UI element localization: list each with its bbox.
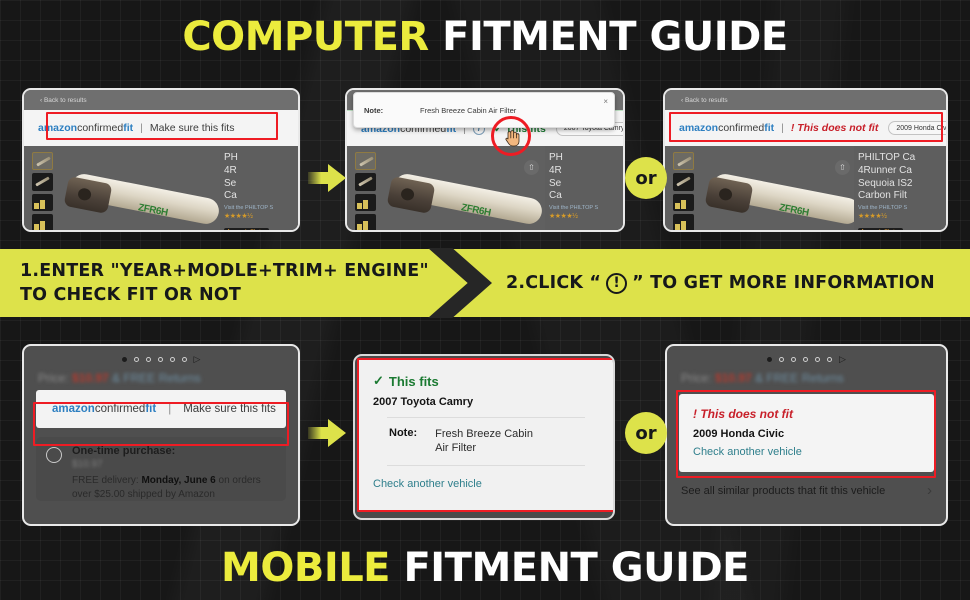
fit-word: fit bbox=[123, 122, 133, 134]
page-title-computer: COMPUTER FITMENT GUIDE bbox=[0, 14, 970, 60]
share-icon[interactable]: ⇧ bbox=[835, 160, 850, 175]
delivery-prefix: FREE delivery: bbox=[72, 475, 141, 486]
rating-stars: ★★★★½ bbox=[858, 212, 942, 220]
product-image: ZFR6H bbox=[70, 172, 230, 232]
check-another-vehicle-link[interactable]: Check another vehicle bbox=[693, 446, 920, 458]
divider-2 bbox=[387, 465, 585, 466]
note-tooltip-popup: Note: Fresh Breeze Cabin Air Filter × bbox=[353, 92, 615, 128]
make-sure-this-fits-label: Make sure this fits bbox=[183, 403, 276, 415]
fit-word: fit bbox=[145, 403, 156, 415]
lockup-separator: | bbox=[140, 122, 143, 134]
fit-word: fit bbox=[764, 122, 774, 134]
confirmed-word: confirmed bbox=[718, 122, 764, 134]
visit-store-link[interactable]: Visit the PHILTOP S bbox=[549, 205, 619, 211]
product-title-line-1: PH bbox=[549, 152, 619, 165]
carousel-dot-1[interactable] bbox=[767, 357, 772, 362]
product-title-line-4: Carbon Filt bbox=[858, 190, 942, 203]
amazon-confirmed-fit-lockup-3: amazonconfirmedfit | ! This does not fit… bbox=[679, 121, 948, 135]
instruction-step-1: 1.ENTER "YEAR+MODLE+TRIM+ ENGINE" TO CHE… bbox=[0, 249, 430, 317]
fitted-vehicle-label: 2007 Toyota Camry bbox=[373, 396, 599, 408]
thumbnail-3[interactable] bbox=[673, 194, 694, 212]
lockup-separator: | bbox=[168, 403, 171, 415]
mobile-screenshot-step1: ▷ Price: $10.97 & FREE Returns amazoncon… bbox=[22, 344, 300, 526]
amazon-wordmark: amazon bbox=[679, 122, 718, 134]
does-not-fit-card: ! This does not fit 2009 Honda Civic Che… bbox=[679, 394, 934, 472]
check-another-vehicle-link[interactable]: Check another vehicle bbox=[373, 478, 599, 490]
vehicle-select-dropdown[interactable]: 2009 Honda Civic ▾ bbox=[888, 121, 948, 135]
mobile-screenshot-nofit: ▷ Price: $10.97 & FREE Returns ! This do… bbox=[665, 344, 948, 526]
amazon-confirmed-fit-lockup-mobile: amazonconfirmedfit | Make sure this fits bbox=[52, 403, 276, 415]
title-rest-mobile: FITMENT GUIDE bbox=[403, 545, 749, 591]
back-to-results-link[interactable]: ‹ Back to results bbox=[681, 97, 728, 104]
thumbnail-2[interactable] bbox=[355, 173, 376, 191]
instruction-banner: 1.ENTER "YEAR+MODLE+TRIM+ ENGINE" TO CHE… bbox=[0, 249, 970, 317]
see-all-similar-label: See all similar products that fit this v… bbox=[681, 484, 885, 499]
carousel-dot-4[interactable] bbox=[803, 357, 808, 362]
amazons-choice-badge: Amazon's Choice bbox=[224, 228, 269, 232]
free-returns-label: & FREE Returns bbox=[755, 371, 844, 385]
title-rest-computer: FITMENT GUIDE bbox=[442, 14, 788, 60]
mobile-fitment-bar: amazonconfirmedfit | Make sure this fits bbox=[36, 390, 286, 428]
back-to-results-link[interactable]: ‹ Back to results bbox=[40, 97, 87, 104]
amazons-choice-badge: Amazon's Choice bbox=[858, 228, 903, 232]
visit-store-link[interactable]: Visit the PHILTOP S bbox=[858, 205, 942, 211]
product-body-step3: ZFR6H ⇧ PHILTOP Ca 4Runner Ca Sequoia IS… bbox=[665, 146, 946, 232]
carousel-dot-5[interactable] bbox=[815, 357, 820, 362]
note-row: Note: Fresh Breeze Cabin Air Filter bbox=[373, 427, 599, 456]
title-highlight-mobile: MOBILE bbox=[221, 545, 390, 591]
visit-store-link[interactable]: Visit the PHILTOP S bbox=[224, 205, 294, 211]
note-label: Note: bbox=[364, 106, 420, 115]
instruction-step-2: 2.CLICK “ ! ” TO GET MORE INFORMATION bbox=[492, 249, 970, 317]
carousel-dot-3[interactable] bbox=[146, 357, 151, 362]
product-title-line-2: 4R bbox=[224, 165, 294, 178]
price-label: Price: bbox=[681, 371, 712, 385]
arrow-right-icon-bottom bbox=[308, 418, 346, 448]
this-fits-label: This fits bbox=[389, 374, 439, 389]
product-title-line-2: 4R bbox=[549, 165, 619, 178]
back-to-results-bar[interactable]: ‹ Back to results bbox=[665, 90, 946, 110]
chevron-right-icon: › bbox=[927, 481, 932, 501]
product-title-line-4: Ca bbox=[224, 190, 294, 203]
image-carousel-dots[interactable]: ▷ bbox=[24, 346, 298, 364]
thumbnail-4[interactable] bbox=[673, 214, 694, 232]
does-not-fit-status: ! This does not fit bbox=[791, 122, 879, 134]
thumbnail-4[interactable] bbox=[32, 214, 53, 232]
arrow-right-icon-top bbox=[308, 163, 346, 193]
computer-screenshot-step3-nofit: ‹ Back to results amazonconfirmedfit | !… bbox=[663, 88, 948, 232]
carousel-dot-4[interactable] bbox=[158, 357, 163, 362]
fitment-detail-card: ✓ This fits 2007 Toyota Camry Note: Fres… bbox=[359, 360, 613, 510]
thumbnail-2[interactable] bbox=[32, 173, 53, 191]
rating-stars: ★★★★½ bbox=[549, 212, 619, 220]
thumbnail-3[interactable] bbox=[32, 194, 53, 212]
price-row-blurred: Price: $10.97 & FREE Returns bbox=[38, 371, 298, 385]
price-label: Price: bbox=[38, 371, 69, 385]
carousel-dot-5[interactable] bbox=[170, 357, 175, 362]
chevron-divider bbox=[430, 249, 492, 317]
mobile-screenshot-fits-card: ✓ This fits 2007 Toyota Camry Note: Fres… bbox=[353, 354, 615, 520]
or-badge-top: or bbox=[625, 157, 667, 199]
back-to-results-bar[interactable]: ‹ Back to results bbox=[24, 90, 298, 110]
note-value: Fresh Breeze Cabin Air Filter bbox=[420, 106, 516, 115]
one-time-purchase-label: One-time purchase: bbox=[72, 445, 276, 457]
does-not-fit-heading: ! This does not fit bbox=[693, 407, 920, 421]
rating-stars: ★★★★½ bbox=[224, 212, 294, 220]
product-title-line-4: Ca bbox=[549, 190, 619, 203]
free-returns-label: & FREE Returns bbox=[112, 371, 201, 385]
thumbnail-1[interactable] bbox=[673, 152, 694, 170]
carousel-dot-6[interactable] bbox=[827, 357, 832, 362]
this-fits-heading: ✓ This fits bbox=[373, 373, 599, 389]
computer-screenshot-step1: ‹ Back to results amazonconfirmedfit | M… bbox=[22, 88, 300, 232]
thumbnail-4[interactable] bbox=[355, 214, 376, 232]
lockup-separator: | bbox=[781, 122, 784, 134]
divider-1 bbox=[387, 417, 585, 418]
thumbnail-1[interactable] bbox=[32, 152, 53, 170]
note-label: Note: bbox=[389, 427, 417, 456]
one-time-purchase-price: $10.97 bbox=[72, 459, 276, 470]
step-2-text-after: ” TO GET MORE INFORMATION bbox=[632, 273, 935, 293]
thumbnail-strip[interactable] bbox=[24, 146, 58, 232]
play-icon[interactable]: ▷ bbox=[839, 355, 846, 364]
thumbnail-strip[interactable] bbox=[347, 146, 381, 232]
carousel-dot-6[interactable] bbox=[182, 357, 187, 362]
exclamation-circle-icon: ! bbox=[606, 273, 627, 294]
fitment-bar-step1: amazonconfirmedfit | Make sure this fits bbox=[24, 110, 298, 146]
share-icon[interactable]: ⇧ bbox=[524, 160, 539, 175]
thumbnail-3[interactable] bbox=[355, 194, 376, 212]
thumbnail-1[interactable] bbox=[355, 152, 376, 170]
product-info-column: PH 4R Se Ca Visit the PHILTOP S ★★★★½ bbox=[545, 146, 623, 232]
product-info-column: PH 4R Se Ca Visit the PHILTOP S ★★★★½ Am… bbox=[220, 146, 298, 232]
product-title-line-1: PHILTOP Ca bbox=[858, 152, 942, 165]
title-highlight-computer: COMPUTER bbox=[182, 14, 428, 60]
carousel-dot-3[interactable] bbox=[791, 357, 796, 362]
product-title-line-2: 4Runner Ca bbox=[858, 165, 942, 178]
note-value: Fresh Breeze Cabin Air Filter bbox=[435, 427, 547, 456]
one-time-purchase-radio[interactable] bbox=[46, 447, 62, 463]
product-title-line-3: Se bbox=[224, 178, 294, 191]
thumbnail-2[interactable] bbox=[673, 173, 694, 191]
page-title-mobile: MOBILE FITMENT GUIDE bbox=[0, 545, 970, 591]
image-carousel-dots[interactable]: ▷ bbox=[667, 346, 946, 364]
confirmed-word: confirmed bbox=[77, 122, 123, 134]
confirmed-word: confirmed bbox=[95, 403, 146, 415]
one-time-purchase-block: One-time purchase: $10.97 FREE delivery:… bbox=[36, 437, 286, 501]
play-icon[interactable]: ▷ bbox=[194, 355, 201, 364]
check-icon: ✓ bbox=[373, 373, 384, 389]
product-image: ZFR6H bbox=[393, 172, 553, 232]
selected-vehicle-label: 2009 Honda Civic bbox=[896, 125, 948, 132]
see-all-similar-row[interactable]: See all similar products that fit this v… bbox=[681, 481, 932, 501]
computer-screenshot-step2: amazonconfirmedfit | i ✓ This fits 2007 … bbox=[345, 88, 625, 232]
amazon-wordmark: amazon bbox=[52, 403, 95, 415]
thumbnail-strip[interactable] bbox=[665, 146, 699, 232]
delivery-date: Monday, June 6 bbox=[141, 475, 215, 486]
product-info-column: PHILTOP Ca 4Runner Ca Sequoia IS2 Carbon… bbox=[854, 146, 946, 232]
price-row-blurred: Price: $10.97 & FREE Returns bbox=[681, 371, 946, 385]
step-2-text-before: 2.CLICK “ bbox=[506, 273, 601, 293]
product-body-step1: ZFR6H PH 4R Se Ca Visit the PHILTOP S ★★… bbox=[24, 146, 298, 232]
product-title-line-1: PH bbox=[224, 152, 294, 165]
delivery-info: FREE delivery: Monday, June 6 on orders … bbox=[72, 474, 276, 501]
price-amount: $10.97 bbox=[715, 371, 752, 385]
fitment-bar-step3: amazonconfirmedfit | ! This does not fit… bbox=[665, 110, 946, 146]
product-body-step2: ZFR6H ⇧ PH 4R Se Ca Visit the PHILTOP S … bbox=[347, 146, 623, 232]
make-sure-this-fits-label: Make sure this fits bbox=[150, 122, 235, 134]
hand-cursor-icon bbox=[505, 129, 520, 147]
carousel-dot-2[interactable] bbox=[134, 357, 139, 362]
product-title-line-3: Se bbox=[549, 178, 619, 191]
close-icon[interactable]: × bbox=[603, 97, 608, 106]
infographic-root: COMPUTER FITMENT GUIDE ‹ Back to results… bbox=[0, 0, 970, 600]
price-amount: $10.97 bbox=[72, 371, 109, 385]
product-image: ZFR6H bbox=[711, 172, 871, 232]
amazon-confirmed-fit-lockup: amazonconfirmedfit | Make sure this fits bbox=[38, 122, 234, 134]
amazon-wordmark: amazon bbox=[38, 122, 77, 134]
nofit-vehicle-label: 2009 Honda Civic bbox=[693, 428, 920, 440]
carousel-dot-1[interactable] bbox=[122, 357, 127, 362]
step-1-text: 1.ENTER "YEAR+MODLE+TRIM+ ENGINE" TO CHE… bbox=[20, 259, 430, 307]
or-badge-bottom: or bbox=[625, 412, 667, 454]
carousel-dot-2[interactable] bbox=[779, 357, 784, 362]
product-title-line-3: Sequoia IS2 bbox=[858, 178, 942, 191]
